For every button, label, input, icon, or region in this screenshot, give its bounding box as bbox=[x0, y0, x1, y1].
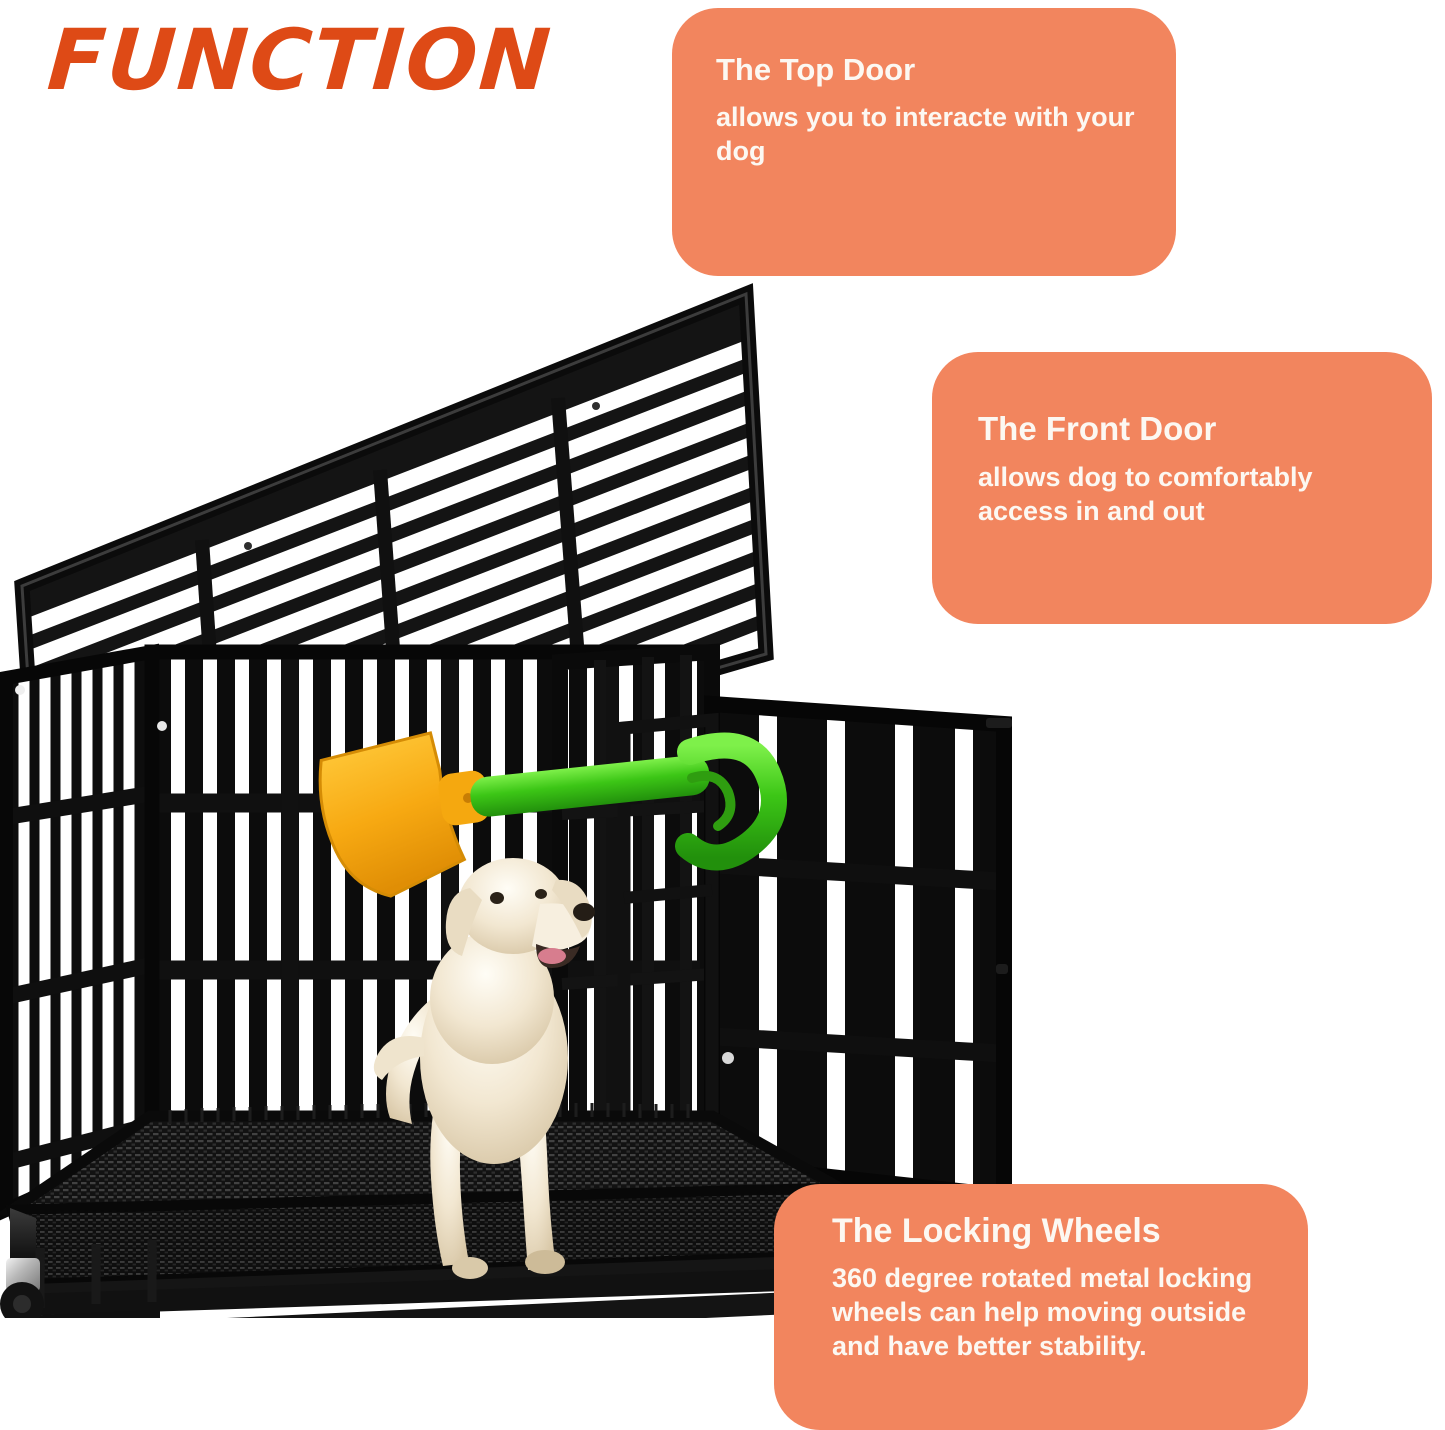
callout-locking-wheels-body: 360 degree rotated metal locking wheels … bbox=[832, 1261, 1284, 1363]
callout-front-door-body: allows dog to comfortably access in and … bbox=[978, 460, 1406, 528]
callout-locking-wheels: The Locking Wheels 360 degree rotated me… bbox=[774, 1184, 1308, 1430]
page-title: FUNCTION bbox=[45, 18, 555, 102]
callout-front-door: The Front Door allows dog to comfortably… bbox=[932, 352, 1432, 624]
dog-crate-illustration bbox=[0, 258, 1060, 1318]
callout-locking-wheels-title: The Locking Wheels bbox=[832, 1212, 1284, 1251]
product-photo bbox=[0, 258, 1060, 1318]
infographic-page: FUNCTION bbox=[0, 0, 1445, 1430]
callout-top-door-title: The Top Door bbox=[716, 52, 1142, 88]
callout-top-door-body: allows you to interacte with your dog bbox=[716, 100, 1142, 168]
cage-caster-wheel-rear-left[interactable] bbox=[0, 1258, 44, 1318]
callout-front-door-title: The Front Door bbox=[978, 410, 1406, 448]
callout-top-door: The Top Door allows you to interacte wit… bbox=[672, 8, 1176, 276]
